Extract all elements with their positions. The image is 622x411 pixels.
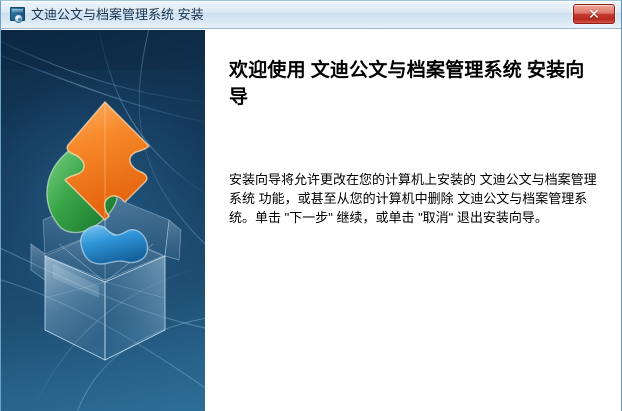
installer-package-icon xyxy=(8,6,26,24)
icon-disc-shape xyxy=(14,14,23,23)
window-title: 文迪公文与档案管理系统 安装 xyxy=(31,5,204,25)
welcome-heading: 欢迎使用 文迪公文与档案管理系统 安装向导 xyxy=(229,57,603,111)
banner-light-streaks xyxy=(1,30,205,411)
welcome-description: 安装向导将允许更改在您的计算机上安装的 文迪公文与档案管理系统 功能，或甚至从您… xyxy=(229,170,605,227)
close-button[interactable]: ✕ xyxy=(573,4,615,24)
title-bar[interactable]: 文迪公文与档案管理系统 安装 ✕ xyxy=(1,1,621,29)
wizard-body: 欢迎使用 文迪公文与档案管理系统 安装向导 安装向导将允许更改在您的计算机上安装… xyxy=(1,30,621,411)
wizard-banner-image xyxy=(1,30,205,411)
close-icon: ✕ xyxy=(574,5,614,23)
title-bar-highlight xyxy=(1,1,621,2)
installer-window: 文迪公文与档案管理系统 安装 ✕ xyxy=(0,0,622,411)
content-pane: 欢迎使用 文迪公文与档案管理系统 安装向导 安装向导将允许更改在您的计算机上安装… xyxy=(205,30,621,411)
